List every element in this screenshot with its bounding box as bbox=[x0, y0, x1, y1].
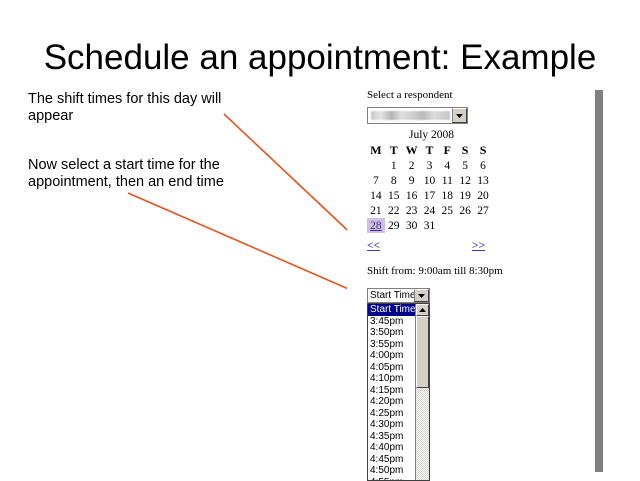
start-time-option[interactable]: 3:55pm bbox=[368, 339, 415, 351]
annotation-callout-select-times: Now select a start time for the appointm… bbox=[28, 157, 243, 191]
start-time-option[interactable]: 4:45pm bbox=[368, 454, 415, 466]
start-time-option[interactable]: 4:05pm bbox=[368, 362, 415, 374]
calendar-weekday: S bbox=[474, 143, 492, 158]
caret-up-icon[interactable] bbox=[416, 304, 429, 316]
calendar-day[interactable]: 15 bbox=[385, 188, 403, 203]
calendar-day[interactable]: 10 bbox=[421, 173, 439, 188]
calendar-day[interactable]: 4 bbox=[438, 158, 456, 173]
respondent-selected-value bbox=[371, 111, 450, 120]
calendar-week-row: 21 22 23 24 25 26 27 bbox=[367, 203, 492, 218]
start-time-select[interactable]: Start Time bbox=[367, 288, 430, 303]
calendar-day[interactable]: 5 bbox=[456, 158, 474, 173]
calendar-day[interactable]: 29 bbox=[385, 218, 403, 233]
start-time-option[interactable]: Start Time bbox=[368, 304, 415, 316]
calendar-day[interactable]: 13 bbox=[474, 173, 492, 188]
chevron-down-icon[interactable] bbox=[414, 289, 429, 302]
calendar-day[interactable]: 11 bbox=[438, 173, 456, 188]
calendar-day[interactable] bbox=[438, 218, 456, 233]
scrollbar-thumb[interactable] bbox=[416, 316, 429, 388]
calendar-day[interactable]: 8 bbox=[385, 173, 403, 188]
calendar-weekday: T bbox=[421, 143, 439, 158]
calendar-day[interactable]: 3 bbox=[421, 158, 439, 173]
chevron-down-icon[interactable] bbox=[452, 108, 467, 123]
start-time-option[interactable]: 4:25pm bbox=[368, 408, 415, 420]
embedded-browser-screenshot: Select a respondent July 2008 M T W T F … bbox=[347, 84, 595, 472]
calendar-day[interactable]: 6 bbox=[474, 158, 492, 173]
calendar-day[interactable]: 31 bbox=[421, 218, 439, 233]
start-time-option[interactable]: 3:45pm bbox=[368, 316, 415, 328]
calendar-day[interactable]: 30 bbox=[403, 218, 421, 233]
arrow-to-calendar-nav bbox=[224, 114, 359, 241]
calendar-day[interactable]: 9 bbox=[403, 173, 421, 188]
calendar-day[interactable] bbox=[474, 218, 492, 233]
calendar-weekday: S bbox=[456, 143, 474, 158]
calendar-weekday: F bbox=[438, 143, 456, 158]
start-time-option[interactable]: 3:50pm bbox=[368, 327, 415, 339]
shift-hours-text: Shift from: 9:00am till 8:30pm bbox=[367, 265, 503, 277]
scrollbar-track[interactable] bbox=[416, 388, 429, 480]
calendar-day[interactable]: 7 bbox=[367, 173, 385, 188]
calendar-prev-month-link[interactable]: << bbox=[367, 240, 380, 252]
page-title: Schedule an appointment: Example bbox=[0, 38, 640, 78]
calendar-week-row: 7 8 9 10 11 12 13 bbox=[367, 173, 492, 188]
calendar-nav: << >> bbox=[367, 240, 485, 252]
start-time-option-list: Start Time 3:45pm 3:50pm 3:55pm 4:00pm 4… bbox=[368, 304, 415, 480]
respondent-select[interactable] bbox=[367, 107, 468, 124]
start-time-selected-value: Start Time bbox=[368, 289, 414, 302]
calendar-day[interactable] bbox=[456, 218, 474, 233]
calendar-day[interactable]: 2 bbox=[403, 158, 421, 173]
calendar-day[interactable]: 24 bbox=[421, 203, 439, 218]
calendar-weekday: M bbox=[367, 143, 385, 158]
start-time-dropdown-list[interactable]: Start Time 3:45pm 3:50pm 3:55pm 4:00pm 4… bbox=[367, 303, 430, 481]
calendar-day[interactable]: 23 bbox=[403, 203, 421, 218]
start-time-option[interactable]: 4:30pm bbox=[368, 419, 415, 431]
calendar-day[interactable]: 21 bbox=[367, 203, 385, 218]
calendar-day[interactable]: 18 bbox=[438, 188, 456, 203]
calendar-day-selected[interactable]: 28 bbox=[367, 218, 385, 233]
calendar-week-row: 1 2 3 4 5 6 bbox=[367, 158, 492, 173]
calendar-day[interactable]: 25 bbox=[438, 203, 456, 218]
arrow-to-start-time-dropdown bbox=[128, 193, 360, 294]
start-time-option[interactable]: 4:55pm bbox=[368, 477, 415, 481]
respondent-label: Select a respondent bbox=[367, 89, 453, 101]
calendar-day[interactable]: 27 bbox=[474, 203, 492, 218]
calendar-widget[interactable]: July 2008 M T W T F S S 1 2 3 bbox=[367, 129, 492, 233]
calendar-weekday-row: M T W T F S S bbox=[367, 143, 492, 158]
start-time-option[interactable]: 4:35pm bbox=[368, 431, 415, 443]
calendar-day[interactable]: 1 bbox=[385, 158, 403, 173]
calendar-month-label: July 2008 bbox=[367, 129, 492, 141]
start-time-option[interactable]: 4:40pm bbox=[368, 442, 415, 454]
calendar-day[interactable]: 17 bbox=[421, 188, 439, 203]
start-time-option[interactable]: 4:10pm bbox=[368, 373, 415, 385]
calendar-day[interactable]: 16 bbox=[403, 188, 421, 203]
calendar-day[interactable]: 19 bbox=[456, 188, 474, 203]
start-time-option[interactable]: 4:20pm bbox=[368, 396, 415, 408]
calendar-weekday: W bbox=[403, 143, 421, 158]
calendar-day[interactable] bbox=[367, 158, 385, 173]
screenshot-shadow-right bbox=[595, 90, 603, 472]
calendar-day[interactable]: 14 bbox=[367, 188, 385, 203]
annotation-callout-shift-times: The shift times for this day will appear bbox=[28, 91, 243, 125]
calendar-day[interactable]: 26 bbox=[456, 203, 474, 218]
calendar-week-row: 14 15 16 17 18 19 20 bbox=[367, 188, 492, 203]
calendar-day[interactable]: 12 bbox=[456, 173, 474, 188]
calendar-next-month-link[interactable]: >> bbox=[472, 240, 485, 252]
calendar-day[interactable]: 20 bbox=[474, 188, 492, 203]
start-time-option[interactable]: 4:15pm bbox=[368, 385, 415, 397]
start-time-option[interactable]: 4:00pm bbox=[368, 350, 415, 362]
calendar-grid: M T W T F S S 1 2 3 4 5 6 bbox=[367, 143, 492, 233]
start-time-option[interactable]: 4:50pm bbox=[368, 465, 415, 477]
calendar-weekday: T bbox=[385, 143, 403, 158]
calendar-week-row: 28 29 30 31 bbox=[367, 218, 492, 233]
calendar-day[interactable]: 22 bbox=[385, 203, 403, 218]
listbox-scrollbar[interactable] bbox=[415, 304, 429, 480]
